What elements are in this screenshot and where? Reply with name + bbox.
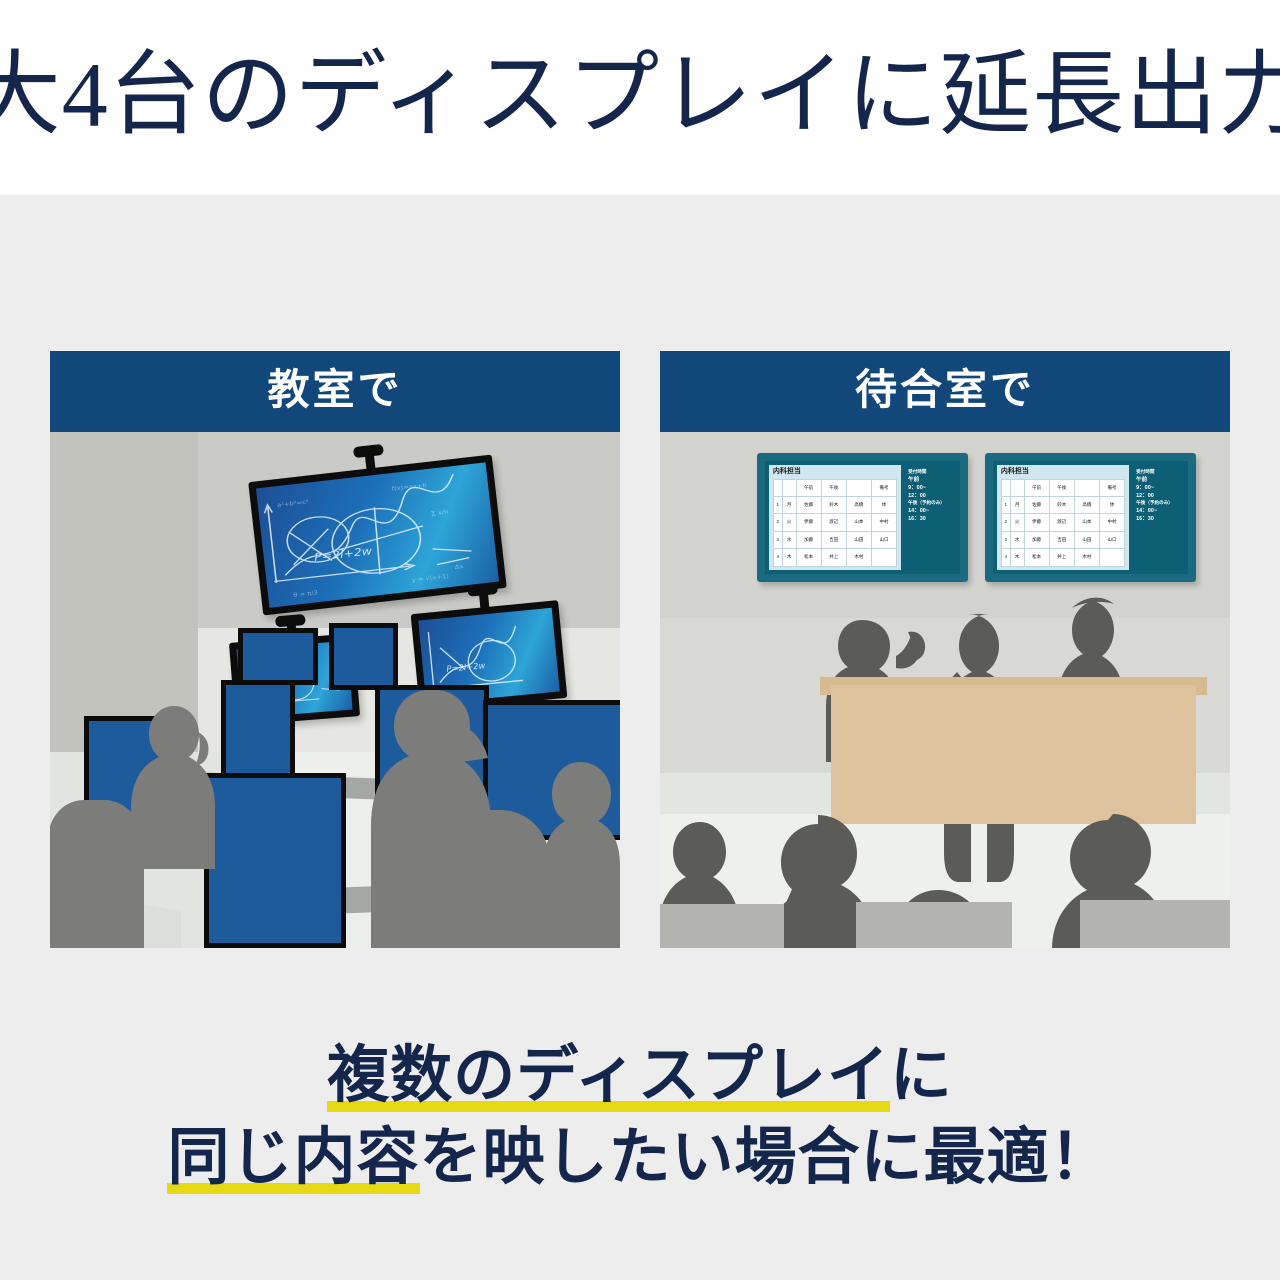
classroom-student-silhouettes	[50, 432, 620, 948]
panel-classroom-header-label: 教室で	[267, 369, 402, 414]
caption-line-2-highlight: 同じ内容	[167, 1123, 419, 1194]
caption-line-2: 同じ内容を映したい場合に最適！	[0, 1117, 1280, 1199]
caption-line-1: 複数のディスプレイに	[0, 1035, 1280, 1117]
content-stage: 教室で	[0, 195, 1280, 1280]
panel-waiting-room-header-label: 待合室で	[855, 369, 1035, 414]
bottom-caption: 複数のディスプレイに 同じ内容を映したい場合に最適！	[0, 1035, 1280, 1199]
caption-line-1-tail: に	[890, 1041, 953, 1110]
caption-line-1-highlight: 複数のディスプレイ	[327, 1041, 890, 1112]
caption-line-2-tail: を映したい場合に最適！	[420, 1123, 1113, 1192]
title-band: 最大4台のディスプレイに延長出力！	[0, 0, 1280, 195]
panel-waiting-room: 待合室で 内科担当 午前午後備考 1月佐藤鈴木高橋休 2火伊藤渡辺山本中村	[660, 351, 1230, 948]
page-title: 最大4台のディスプレイに延長出力！	[0, 49, 1280, 147]
panel-waiting-room-header: 待合室で	[660, 351, 1230, 432]
panel-classroom-header: 教室で	[50, 351, 620, 432]
classroom-illustration: P=2l+2w a²+b²=c² f(x)=ax+b ∑ x/n y = √(x…	[50, 432, 620, 948]
waiting-room-illustration: 内科担当 午前午後備考 1月佐藤鈴木高橋休 2火伊藤渡辺山本中村 3水加藤吉田山…	[660, 432, 1230, 948]
panel-classroom: 教室で	[50, 351, 620, 948]
waiting-room-seat-backs	[660, 432, 1230, 948]
